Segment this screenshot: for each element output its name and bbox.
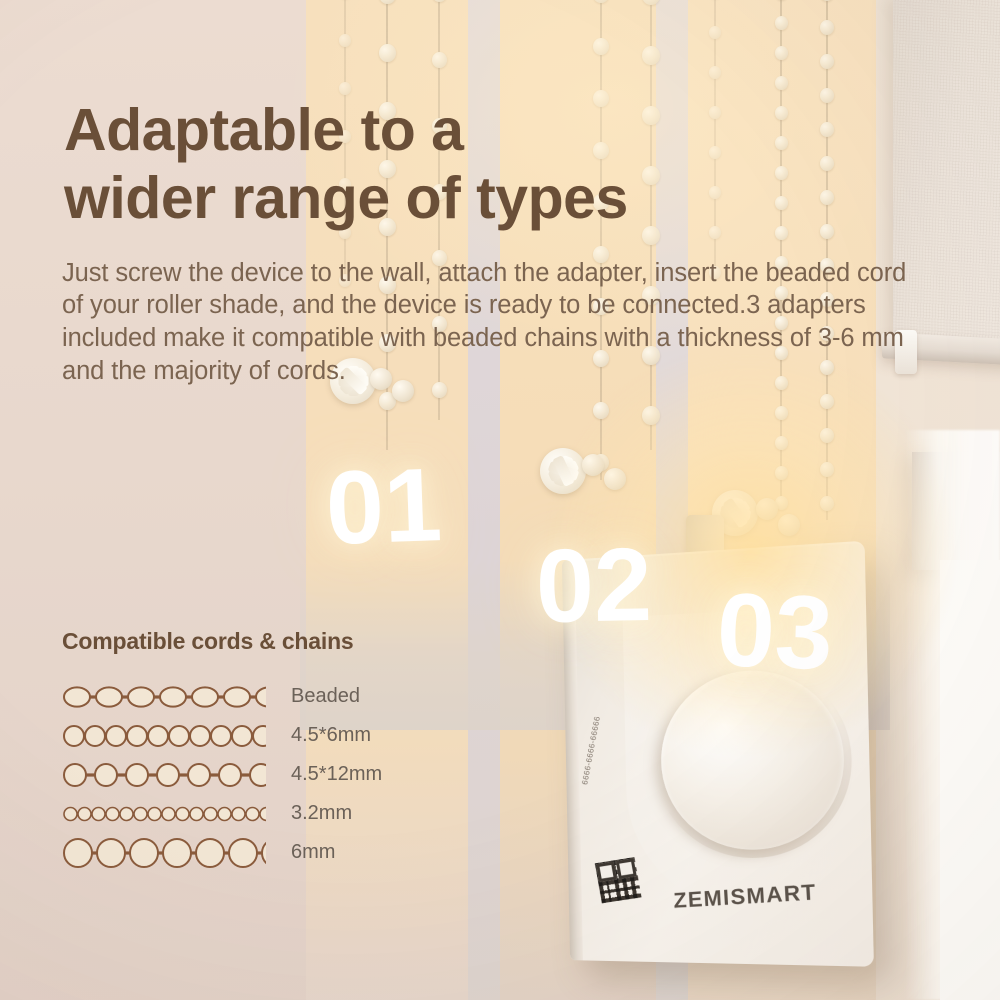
legend-row-label: 3.2mm <box>291 802 352 825</box>
legend-row: 4.5*12mm <box>62 755 462 794</box>
headline-line-1: Adaptable to a <box>64 97 464 163</box>
adapter-bead <box>756 498 778 520</box>
beaded-chain <box>586 0 616 480</box>
chain-bead <box>339 34 351 47</box>
chain-bead <box>820 394 834 409</box>
device-serial-number: 6666-6666-66666 <box>580 665 611 785</box>
product-marketing-image: 6666-6666-66666 ZEMISMART Adaptable to a… <box>0 0 1000 1000</box>
chain-bead <box>432 52 447 68</box>
adapter-socket <box>686 515 724 555</box>
legend-row: 3.2mm <box>62 794 462 833</box>
chain-bead <box>820 462 834 477</box>
chain-bead <box>820 0 834 1</box>
chain-bead <box>775 466 788 480</box>
chain-bead <box>775 406 788 420</box>
step-number-03: 03 <box>715 578 834 686</box>
chain-bead <box>820 20 834 35</box>
chain-bead <box>775 226 788 240</box>
chain-diagram-large-bar <box>62 836 266 870</box>
chain-diagram-touching <box>62 719 266 753</box>
legend-row: 6mm <box>62 833 462 872</box>
chain-bead <box>432 0 447 2</box>
adapter-bead <box>778 514 800 536</box>
legend-title: Compatible cords & chains <box>62 628 462 655</box>
chain-diagram-oval-link <box>62 680 266 714</box>
chain-bead <box>642 46 660 65</box>
chain-bead <box>642 0 660 5</box>
legend-row-label: 4.5*12mm <box>291 763 382 786</box>
step-number-01: 01 <box>324 453 443 561</box>
window-light-core <box>940 560 1000 1000</box>
chain-bead <box>775 46 788 60</box>
body-description: Just screw the device to the wall, attac… <box>62 257 922 389</box>
chain-bead <box>593 402 609 419</box>
chain-cord <box>780 0 782 500</box>
legend-row: 4.5*6mm <box>62 716 462 755</box>
headline-line-2: wider range of types <box>64 164 764 232</box>
compatible-cords-legend: Compatible cords & chains Beaded4.5*6mm4… <box>62 628 462 872</box>
chain-bead <box>775 166 788 180</box>
chain-bead <box>379 44 396 62</box>
chain-bead <box>642 406 660 425</box>
chain-bead <box>820 122 834 137</box>
chain-bead <box>820 496 834 511</box>
legend-row-label: Beaded <box>291 685 360 708</box>
chain-bead <box>379 0 396 4</box>
adapter-bead <box>582 454 604 476</box>
chain-bead <box>775 136 788 150</box>
chain-bead <box>593 38 609 55</box>
chain-bead <box>775 436 788 450</box>
chain-bead <box>775 76 788 90</box>
chain-bead <box>775 106 788 120</box>
chain-bead <box>820 428 834 443</box>
chain-bead <box>820 190 834 205</box>
chain-bead <box>820 224 834 239</box>
legend-row-label: 6mm <box>291 841 335 864</box>
chain-bead <box>709 66 721 79</box>
beaded-chain <box>766 0 796 500</box>
gear-icon <box>540 448 586 494</box>
adapter-bead <box>604 468 626 490</box>
chain-bead <box>820 88 834 103</box>
legend-row: Beaded <box>62 677 462 716</box>
chain-bead <box>820 156 834 171</box>
legend-row-list: Beaded4.5*6mm4.5*12mm3.2mm6mm <box>62 677 462 872</box>
step-number-02: 02 <box>535 533 652 639</box>
page-title: Adaptable to a wider range of types <box>64 96 764 233</box>
chain-diagram-tiny-touching <box>62 797 266 831</box>
chain-bead <box>709 26 721 39</box>
chain-diagram-spaced-bar <box>62 758 266 792</box>
legend-row-label: 4.5*6mm <box>291 724 371 747</box>
chain-bead <box>339 82 351 95</box>
chain-bead <box>775 196 788 210</box>
qr-code <box>595 857 642 903</box>
chain-bead <box>775 16 788 30</box>
chain-bead <box>593 0 609 3</box>
chain-bead <box>820 54 834 69</box>
